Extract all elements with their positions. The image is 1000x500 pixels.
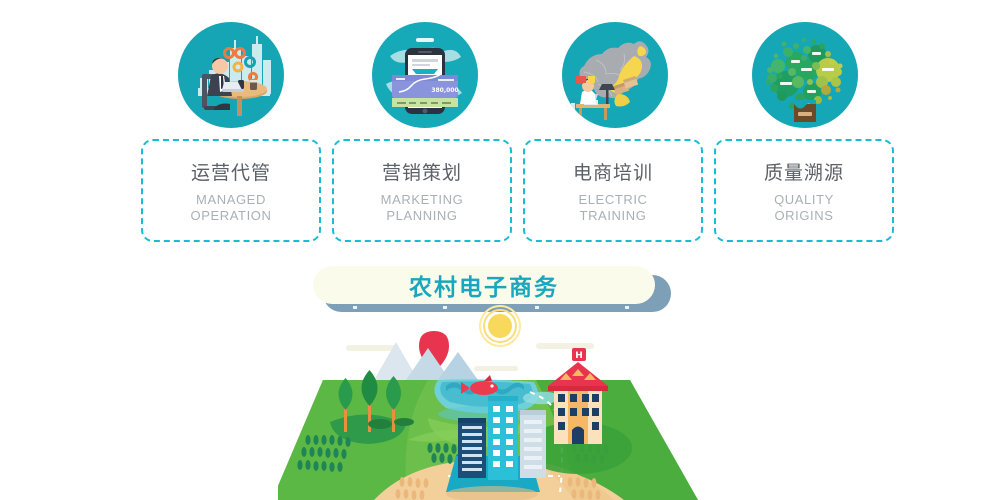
card-subtitle-line: ELECTRIC bbox=[578, 192, 647, 208]
card-title: 质量溯源 bbox=[764, 158, 844, 185]
card-electric-training[interactable]: 电商培训 ELECTRIC TRAINING bbox=[523, 139, 703, 242]
card-managed-operation[interactable]: 运营代管 MANAGED OPERATION bbox=[141, 139, 321, 242]
hotel-sign-label: H bbox=[575, 351, 583, 361]
businessman-laptop-city-icon bbox=[178, 22, 284, 128]
bubble-tree-traceability-icon bbox=[752, 22, 858, 128]
card-marketing-planning[interactable]: 营销策划 MARKETING PLANNING bbox=[332, 139, 512, 242]
card-subtitle-line: QUALITY bbox=[774, 192, 834, 208]
card-title: 电商培训 bbox=[573, 158, 653, 185]
icon-circle-electric-training bbox=[562, 22, 668, 128]
icon-circle-marketing-planning: 380,000 bbox=[372, 22, 478, 128]
card-quality-origins[interactable]: 质量溯源 QUALITY ORIGINS bbox=[714, 139, 894, 242]
card-subtitle-line: PLANNING bbox=[381, 208, 464, 224]
card-title: 运营代管 bbox=[191, 158, 271, 185]
infographic-canvas: 380,000 bbox=[0, 0, 1000, 500]
icon-circle-managed-operation bbox=[178, 22, 284, 128]
card-subtitle: QUALITY ORIGINS bbox=[774, 192, 834, 224]
card-title: 营销策划 bbox=[382, 158, 462, 185]
analytics-card-value: 380,000 bbox=[431, 87, 458, 94]
card-subtitle-line: MANAGED bbox=[190, 192, 271, 208]
card-subtitle-line: ORIGINS bbox=[774, 208, 834, 224]
card-subtitle-line: MARKETING bbox=[381, 192, 464, 208]
china-map-delivery-icon bbox=[562, 22, 668, 128]
smartphone-analytics-icon: 380,000 bbox=[372, 22, 478, 128]
card-subtitle-line: OPERATION bbox=[190, 208, 271, 224]
card-subtitle: ELECTRIC TRAINING bbox=[578, 192, 647, 224]
card-subtitle: MANAGED OPERATION bbox=[190, 192, 271, 224]
banner-face: 农村电子商务 bbox=[313, 266, 655, 304]
icon-circle-quality-origins bbox=[752, 22, 858, 128]
card-subtitle: MARKETING PLANNING bbox=[381, 192, 464, 224]
card-subtitle-line: TRAINING bbox=[578, 208, 647, 224]
banner-title: 农村电子商务 bbox=[409, 268, 559, 302]
sun-icon bbox=[480, 306, 520, 346]
village-ecommerce-scene: H bbox=[278, 300, 698, 500]
